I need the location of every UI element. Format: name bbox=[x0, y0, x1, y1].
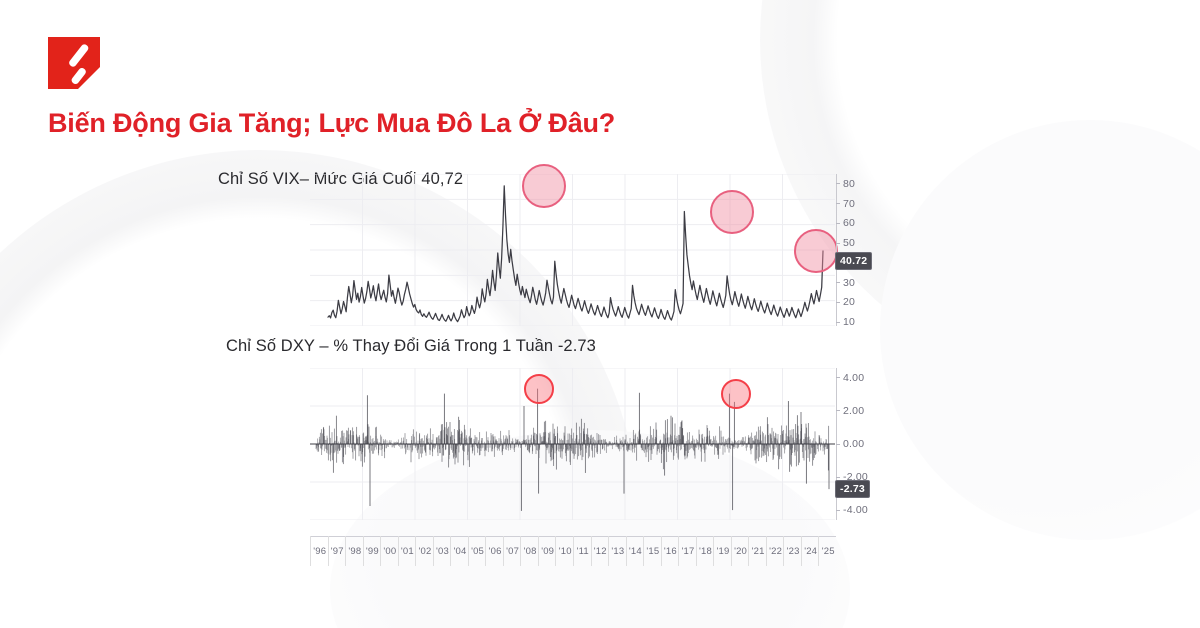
x-axis-year-label: '22 bbox=[766, 536, 785, 566]
x-axis-year-label: '18 bbox=[696, 536, 715, 566]
vix-y-tick: 80 bbox=[836, 178, 855, 190]
dxy-y-axis: -4.00-2.000.002.004.00-2.73 bbox=[836, 368, 882, 520]
tick-label: -4.00 bbox=[843, 504, 868, 516]
vix-y-tick: 60 bbox=[836, 217, 855, 229]
vix-y-tick: 50 bbox=[836, 237, 855, 249]
poster-canvas: Biến Động Gia Tăng; Lực Mua Đô La Ở Đâu?… bbox=[0, 0, 1200, 628]
x-axis-year-label: '00 bbox=[380, 536, 399, 566]
tick-label: 80 bbox=[843, 178, 855, 190]
dxy-last-value-badge: -2.73 bbox=[835, 480, 870, 498]
tick-label: 30 bbox=[843, 277, 855, 289]
tick-mark bbox=[836, 322, 840, 323]
tick-label: 10 bbox=[843, 316, 855, 328]
x-axis-year-label: '20 bbox=[731, 536, 750, 566]
x-axis-year-label: '14 bbox=[626, 536, 645, 566]
x-axis-year-label: '11 bbox=[573, 536, 592, 566]
vix-y-tick: 10 bbox=[836, 316, 855, 328]
x-axis-year-label: '15 bbox=[643, 536, 662, 566]
x-axis-year-label: '21 bbox=[748, 536, 767, 566]
tick-mark bbox=[836, 410, 840, 411]
tick-label: 60 bbox=[843, 217, 855, 229]
dxy-y-tick: 4.00 bbox=[836, 372, 864, 384]
vix-y-tick: 30 bbox=[836, 277, 855, 289]
vix-y-tick: 20 bbox=[836, 296, 855, 308]
dxy-y-tick: -4.00 bbox=[836, 504, 868, 516]
tick-label: 0.00 bbox=[843, 438, 864, 450]
tick-mark bbox=[836, 510, 840, 511]
tick-label: 20 bbox=[843, 296, 855, 308]
x-axis-year-label: '06 bbox=[485, 536, 504, 566]
x-axis-year-label: '17 bbox=[678, 536, 697, 566]
tick-label: 50 bbox=[843, 237, 855, 249]
x-axis-year-label: '08 bbox=[520, 536, 539, 566]
x-axis-year-label: '10 bbox=[555, 536, 574, 566]
tick-label: 70 bbox=[843, 198, 855, 210]
dxy-spike-highlight-circle bbox=[721, 379, 751, 409]
tick-mark bbox=[836, 377, 840, 378]
shared-x-axis: '96'97'98'99'00'01'02'03'04'05'06'07'08'… bbox=[310, 536, 836, 566]
x-axis-year-label: '02 bbox=[415, 536, 434, 566]
x-axis-year-label: '19 bbox=[713, 536, 732, 566]
x-axis-year-label: '99 bbox=[363, 536, 382, 566]
dxy-spike-highlight-circle bbox=[524, 374, 554, 404]
vix-y-axis: 1020305060708040.72 bbox=[836, 174, 882, 326]
tick-mark bbox=[836, 444, 840, 445]
dxy-y-tick: 2.00 bbox=[836, 405, 864, 417]
vix-y-tick: 70 bbox=[836, 198, 855, 210]
x-axis-year-label: '05 bbox=[468, 536, 487, 566]
tick-mark bbox=[836, 302, 840, 303]
tick-mark bbox=[836, 282, 840, 283]
tick-mark bbox=[836, 243, 840, 244]
tick-mark bbox=[836, 183, 840, 184]
dxy-y-tick: 0.00 bbox=[836, 438, 864, 450]
x-axis-year-label: '13 bbox=[608, 536, 627, 566]
tick-mark bbox=[836, 203, 840, 204]
x-axis-year-label: '25 bbox=[818, 536, 837, 566]
x-axis-year-label: '07 bbox=[503, 536, 522, 566]
x-axis-year-label: '97 bbox=[328, 536, 347, 566]
x-axis-year-label: '96 bbox=[310, 536, 329, 566]
x-axis-year-label: '12 bbox=[591, 536, 610, 566]
x-axis-year-label: '23 bbox=[783, 536, 802, 566]
dxy-annotation-layer bbox=[0, 0, 1200, 628]
x-axis-year-label: '03 bbox=[433, 536, 452, 566]
x-axis-year-label: '01 bbox=[398, 536, 417, 566]
x-axis-year-label: '24 bbox=[801, 536, 820, 566]
vix-last-value-badge: 40.72 bbox=[835, 252, 872, 270]
x-axis-year-label: '16 bbox=[661, 536, 680, 566]
x-axis-year-label: '98 bbox=[345, 536, 364, 566]
tick-label: 4.00 bbox=[843, 372, 864, 384]
tick-label: 2.00 bbox=[843, 405, 864, 417]
tick-mark bbox=[836, 223, 840, 224]
x-axis-year-label: '09 bbox=[538, 536, 557, 566]
x-axis-year-label: '04 bbox=[450, 536, 469, 566]
tick-mark bbox=[836, 477, 840, 478]
